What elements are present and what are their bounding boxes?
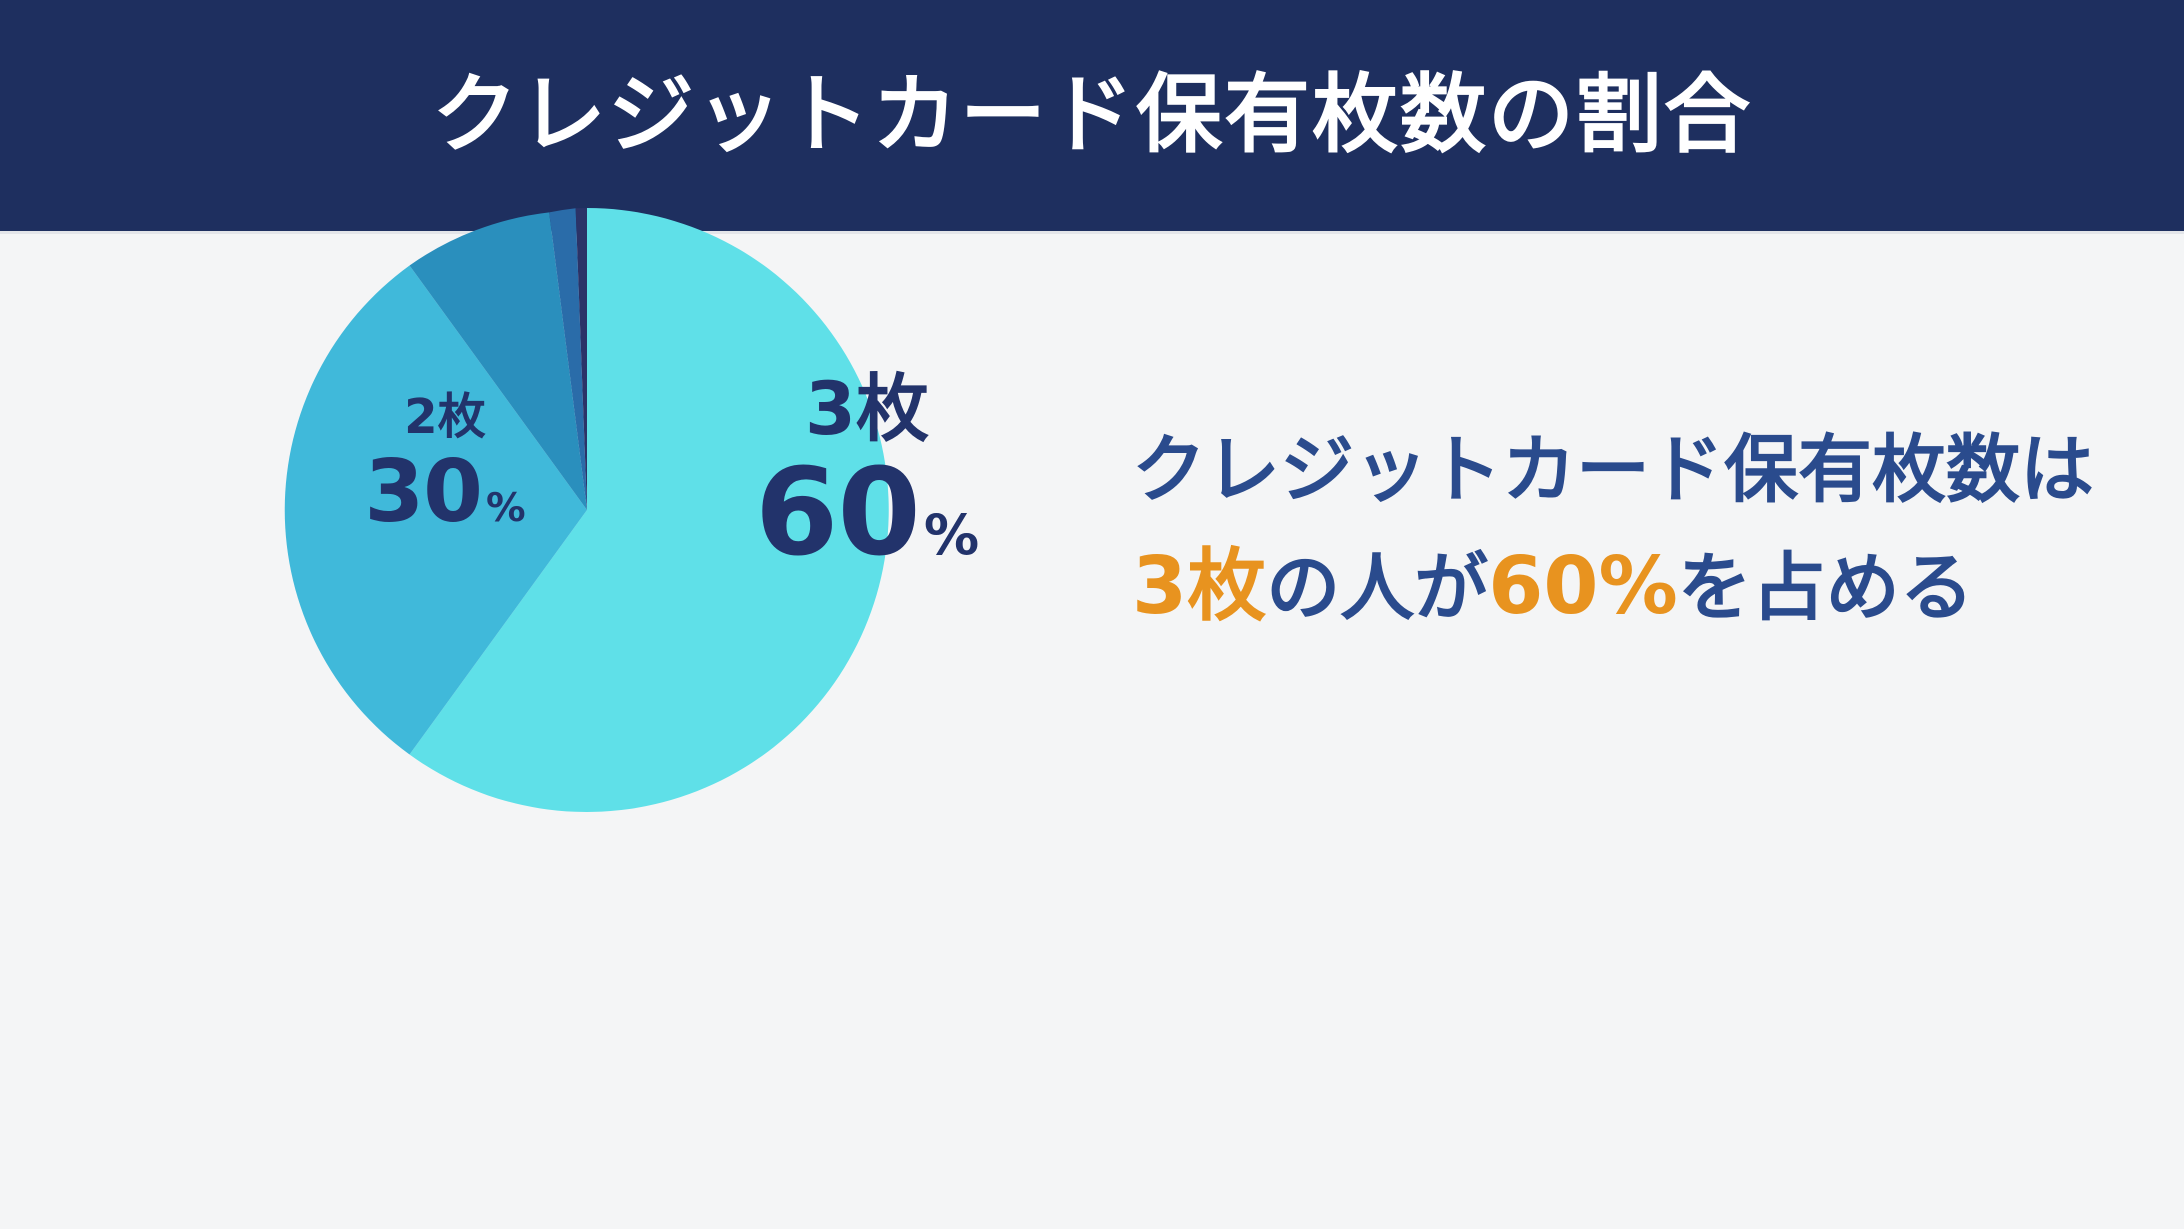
- content-area: 3枚 60% 2枚 30% クレジットカード保有枚数は 3枚の人が60%を占める: [0, 234, 2184, 1229]
- pie-label-3mai: 3枚 60%: [717, 373, 1017, 574]
- pie-label-2mai-category: 2枚: [325, 393, 565, 441]
- pie-chart: 3枚 60% 2枚 30%: [285, 208, 889, 812]
- pie-label-2mai: 2枚 30%: [325, 393, 565, 535]
- summary-caption: クレジットカード保有枚数は 3枚の人が60%を占める: [1132, 414, 2092, 647]
- caption-highlight-cards: 3枚: [1132, 540, 1266, 632]
- pie-label-2mai-value: 30%: [325, 449, 565, 535]
- pie-label-3mai-unit: %: [924, 504, 979, 568]
- caption-text-wo-shimeru: を占める: [1678, 545, 1974, 631]
- pie-label-3mai-value: 60%: [717, 454, 1017, 574]
- header-band: クレジットカード保有枚数の割合: [0, 0, 2184, 231]
- pie-label-2mai-unit: %: [486, 485, 526, 531]
- page-title: クレジットカード保有枚数の割合: [432, 68, 1752, 163]
- caption-text-nohitoga: の人が: [1266, 545, 1488, 631]
- pie-label-3mai-number: 60: [755, 444, 920, 583]
- pie-label-2mai-number: 30: [364, 442, 482, 542]
- pie-label-3mai-category: 3枚: [717, 373, 1017, 446]
- caption-line-1: クレジットカード保有枚数は: [1132, 414, 2092, 526]
- caption-highlight-percent: 60%: [1488, 540, 1678, 632]
- caption-line-2: 3枚の人が60%を占める: [1132, 526, 2092, 646]
